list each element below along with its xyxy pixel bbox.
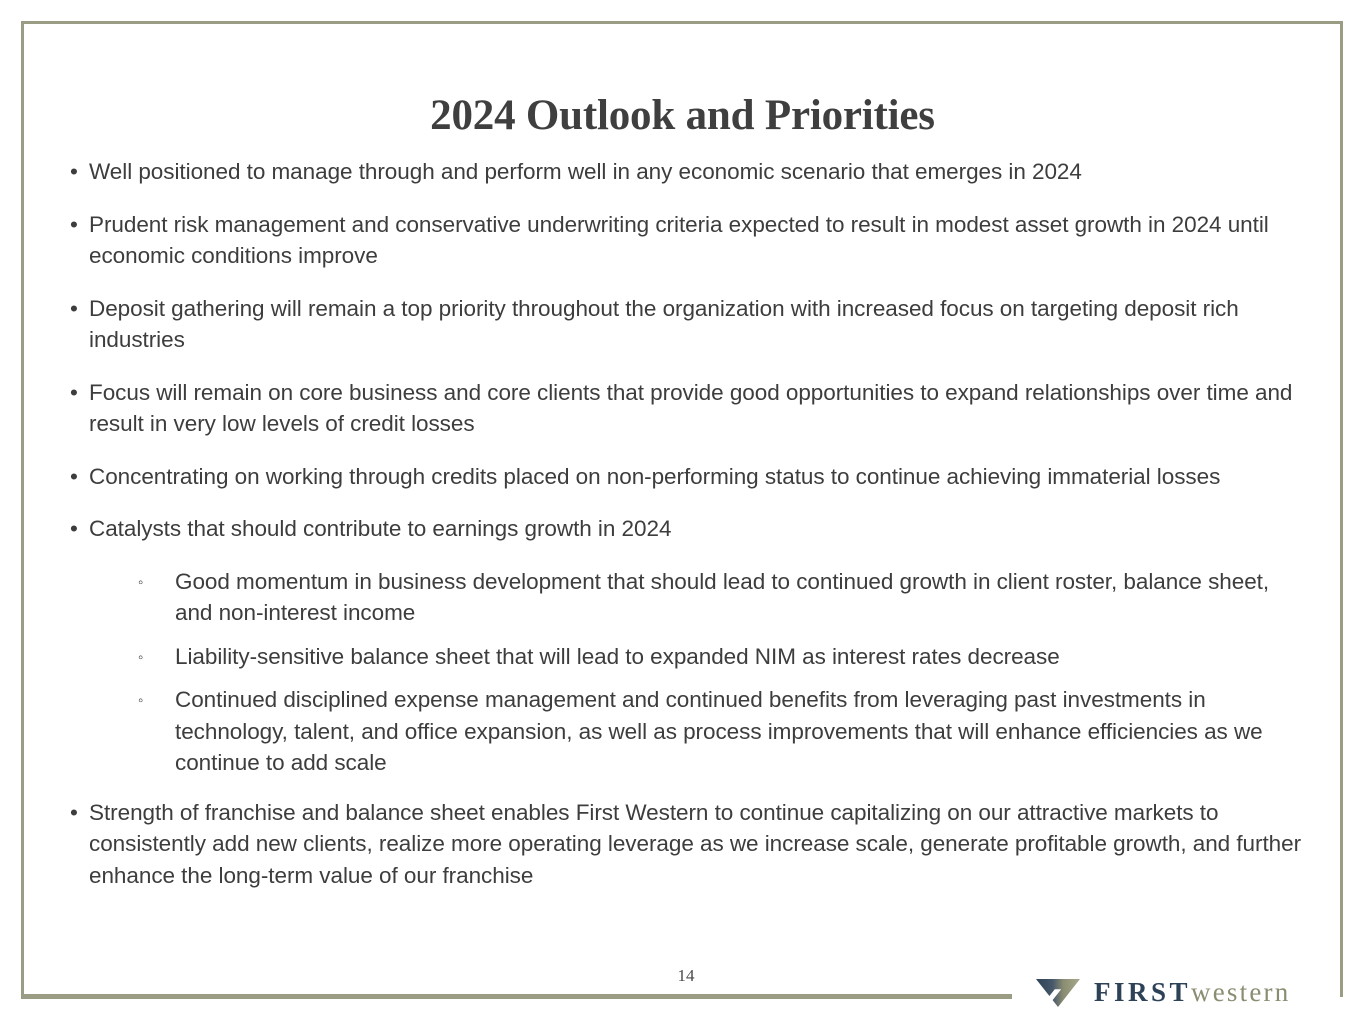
logo-word-western: western (1191, 977, 1290, 1007)
list-item-text: Prudent risk management and conservative… (89, 209, 1312, 272)
sub-list-item-text: Good momentum in business development th… (175, 566, 1312, 629)
bullet-marker-icon: • (70, 513, 78, 545)
list-item: • Catalysts that should contribute to ea… (62, 513, 1312, 545)
first-western-w-mark-icon (1036, 977, 1080, 1007)
list-item: • Prudent risk management and conservati… (62, 209, 1312, 272)
sub-list-item-text: Continued disciplined expense management… (175, 684, 1312, 779)
list-item: • Strength of franchise and balance shee… (62, 797, 1312, 892)
list-item-text: Concentrating on working through credits… (89, 461, 1312, 493)
page-number: 14 (646, 966, 726, 986)
slide-canvas: 2024 Outlook and Priorities • Well posit… (0, 0, 1365, 1024)
footer-divider (21, 994, 1012, 999)
list-item: • Concentrating on working through credi… (62, 461, 1312, 493)
list-item-text: Well positioned to manage through and pe… (89, 156, 1312, 188)
list-item: • Deposit gathering will remain a top pr… (62, 293, 1312, 356)
list-item: • Well positioned to manage through and … (62, 156, 1312, 188)
page-title: 2024 Outlook and Priorities (0, 91, 1365, 140)
bullet-marker-icon: • (70, 377, 78, 409)
list-item-text: Strength of franchise and balance sheet … (89, 797, 1312, 892)
list-item: • Focus will remain on core business and… (62, 377, 1312, 440)
bullet-marker-icon: • (70, 156, 78, 188)
sub-bullet-marker-icon: ◦ (138, 642, 143, 674)
sub-list-item-text: Liability-sensitive balance sheet that w… (175, 641, 1312, 673)
list-item-text: Focus will remain on core business and c… (89, 377, 1312, 440)
list-item-text: Catalysts that should contribute to earn… (89, 513, 1312, 545)
first-western-logo: FIRSTwestern (1036, 969, 1290, 1015)
logo-word-first: FIRST (1094, 977, 1191, 1007)
list-item-text: Deposit gathering will remain a top prio… (89, 293, 1312, 356)
sub-bullet-list: ◦ Good momentum in business development … (62, 566, 1312, 779)
sub-list-item: ◦ Good momentum in business development … (62, 566, 1312, 629)
sub-bullet-marker-icon: ◦ (138, 567, 143, 599)
bullet-marker-icon: • (70, 209, 78, 241)
sub-list-item: ◦ Continued disciplined expense manageme… (62, 684, 1312, 779)
sub-bullet-marker-icon: ◦ (138, 685, 143, 717)
bullet-list: • Well positioned to manage through and … (62, 156, 1312, 912)
bullet-marker-icon: • (70, 797, 78, 829)
bullet-marker-icon: • (70, 293, 78, 325)
logo-wordmark: FIRSTwestern (1094, 977, 1290, 1007)
sub-list-item: ◦ Liability-sensitive balance sheet that… (62, 641, 1312, 673)
bullet-marker-icon: • (70, 461, 78, 493)
